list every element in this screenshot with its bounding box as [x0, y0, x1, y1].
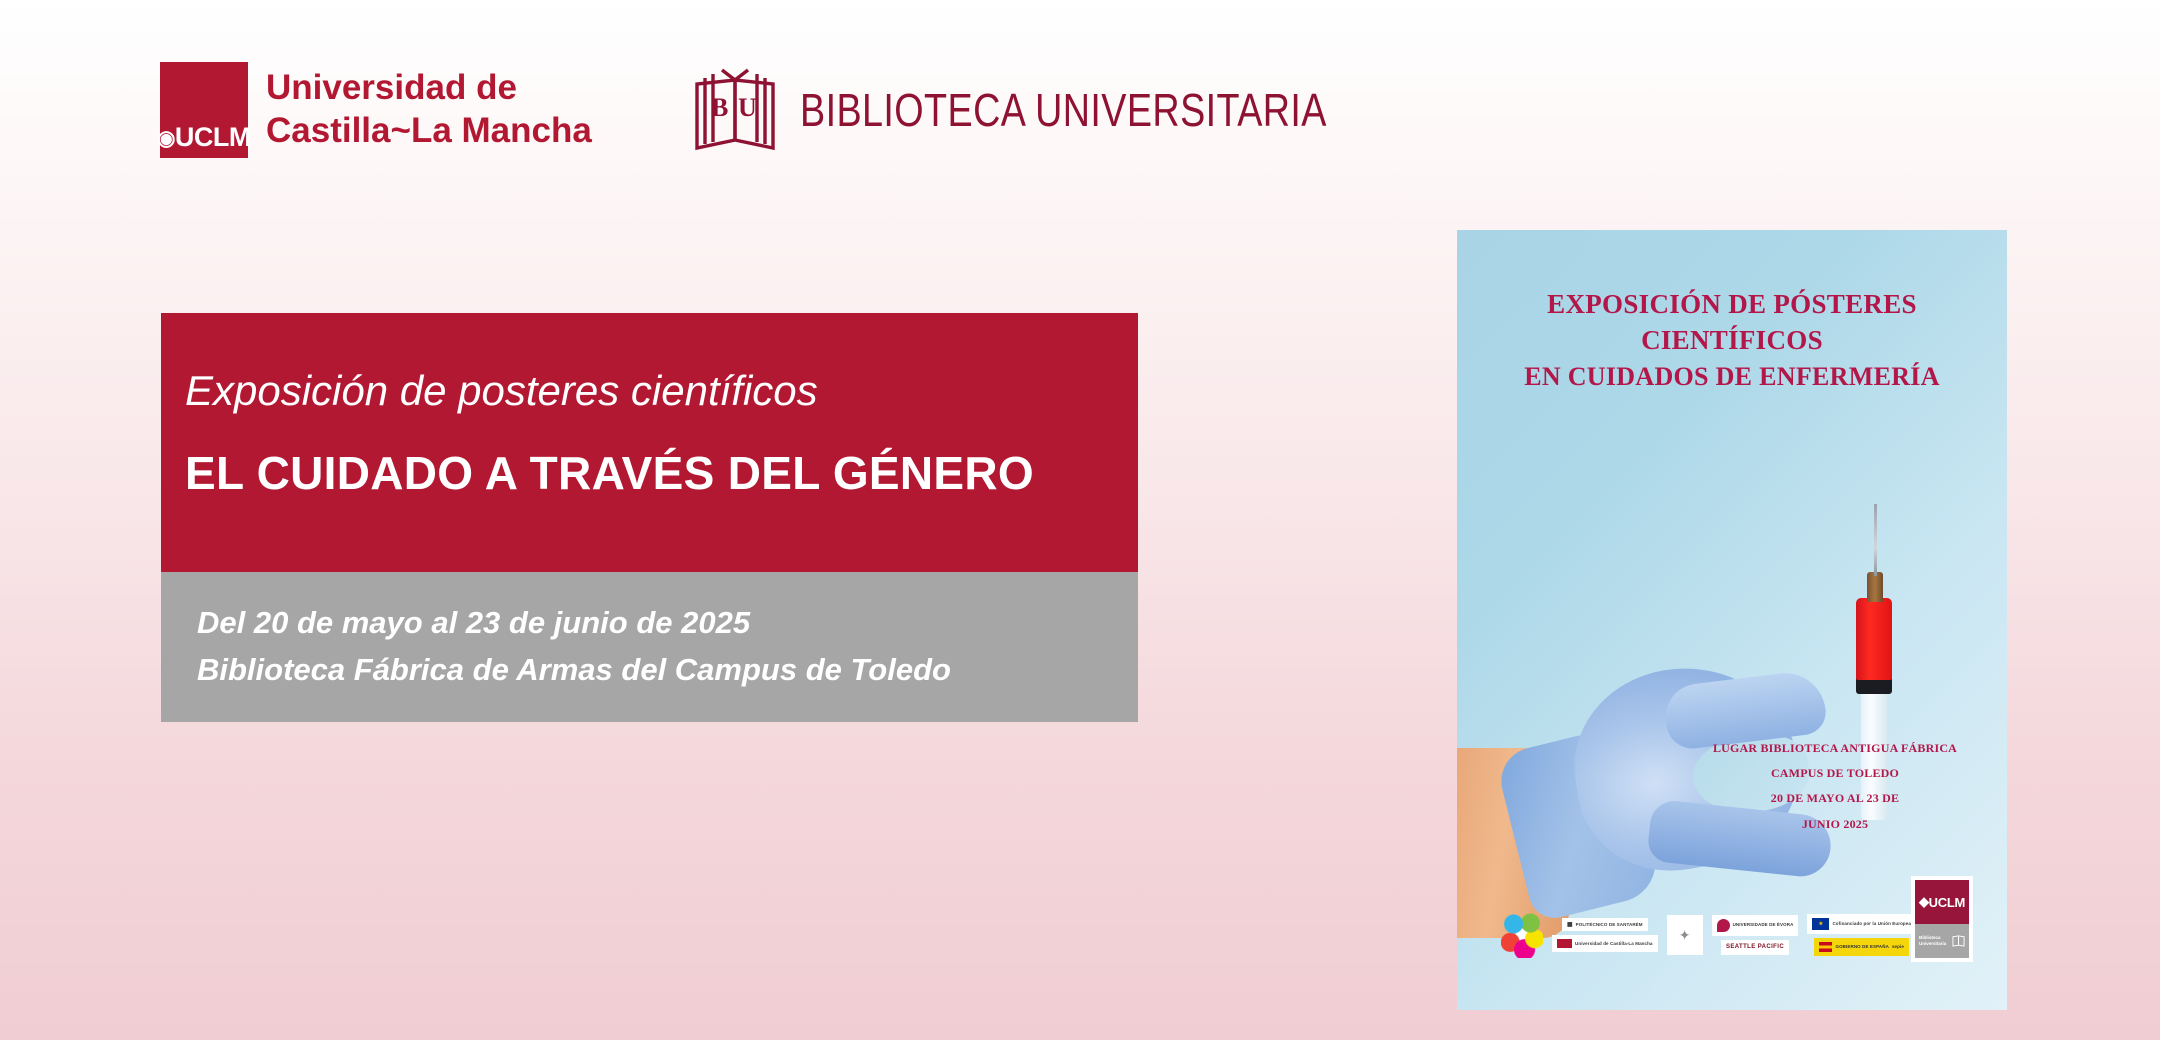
uclm-small-label: Universidad de Castilla-La Mancha [1575, 941, 1653, 947]
santarem-icon: ⬛ [1567, 922, 1573, 928]
poster-sponsor-logos: ⬛ POLITÉCNICO DE SANTARÉM Universidad de… [1501, 912, 1916, 958]
svg-text:U: U [738, 93, 757, 122]
uclm-small-icon [1557, 939, 1572, 948]
uclm-mark-text: ◉UCLM [157, 124, 251, 151]
announcement-venue: Biblioteca Fábrica de Armas del Campus d… [197, 647, 1138, 694]
sponsor-eu-sepie-group: Cofinanciado por la Unión Europea GOBIER… [1807, 914, 1916, 956]
sepie-label: sepie [1892, 944, 1904, 950]
poster-badge-book-icon [1952, 934, 1965, 948]
syringe-hub-shape [1867, 572, 1883, 602]
seattle-pacific-chip: SEATTLE PACIFIC [1721, 940, 1789, 956]
poster-uclm-badge-label: UCLM [1929, 895, 1965, 910]
european-union-label: Cofinanciado por la Unión Europea [1832, 921, 1911, 927]
sponsor-santarem-uclm-group: ⬛ POLITÉCNICO DE SANTARÉM Universidad de… [1552, 918, 1658, 953]
uclm-red-mark: ◉UCLM [160, 62, 248, 158]
sponsor-unimore: ✦ [1667, 915, 1703, 955]
poster-badge-sub-line1: Biblioteca [1919, 935, 1941, 940]
european-union-flag-icon [1812, 918, 1829, 930]
evora-icon [1717, 919, 1730, 932]
sponsor-evora-seattle-group: UNIVERSIDADE DE ÉVORA SEATTLE PACIFIC [1712, 915, 1799, 956]
announcement-gray-banner: Del 20 de mayo al 23 de junio de 2025 Bi… [161, 572, 1138, 722]
uclm-wordmark: Universidad de Castilla~La Mancha [266, 62, 592, 158]
uclm-target-icon: ◉ [157, 127, 175, 150]
poster-uclm-badge-sub: Biblioteca Universitaria [1915, 924, 1969, 958]
universidade-evora-label: UNIVERSIDADE DE ÉVORA [1733, 922, 1794, 928]
event-poster-image: EXPOSICIÓN DE PÓSTERES CIENTÍFICOS EN CU… [1457, 230, 2007, 1010]
european-union-chip: Cofinanciado por la Unión Europea [1807, 914, 1916, 934]
poster-detail-month: JUNIO 2025 [1685, 812, 1985, 837]
poster-uclm-badge: ◆UCLM Biblioteca Universitaria [1911, 876, 1973, 962]
gobierno-espana-icon [1819, 942, 1832, 952]
announcement-date: Del 20 de mayo al 23 de junio de 2025 [197, 600, 1138, 647]
biblioteca-universitaria-title: BIBLIOTECA UNIVERSITARIA [800, 83, 1327, 137]
poster-detail-venue: LUGAR BIBLIOTECA ANTIGUA FÁBRICA [1685, 736, 1985, 761]
poster-badge-sub-text: Biblioteca Universitaria [1919, 935, 1946, 947]
erasmus-plus-icon [1501, 912, 1543, 958]
announcement-red-banner: Exposición de posteres científicos EL CU… [161, 313, 1138, 572]
poster-badge-sub-line2: Universitaria [1919, 941, 1946, 946]
uclm-logo: ◉UCLM Universidad de Castilla~La Mancha [160, 62, 592, 158]
politecnico-santarem-label: POLITÉCNICO DE SANTARÉM [1576, 922, 1643, 928]
unimore-icon: ✦ [1667, 915, 1703, 955]
uclm-wordmark-line1: Universidad de [266, 67, 592, 110]
universidade-evora-chip: UNIVERSIDADE DE ÉVORA [1712, 915, 1799, 936]
open-book-bu-icon: B U [692, 64, 778, 156]
sponsor-erasmus-plus [1501, 912, 1543, 958]
politecnico-santarem-chip: ⬛ POLITÉCNICO DE SANTARÉM [1562, 918, 1648, 932]
header-logo-bar: ◉UCLM Universidad de Castilla~La Mancha … [160, 62, 1442, 158]
poster-details: LUGAR BIBLIOTECA ANTIGUA FÁBRICA CAMPUS … [1685, 736, 1985, 837]
gobierno-espana-label: GOBIERNO DE ESPAÑA [1835, 944, 1888, 950]
uclm-mark-label: UCLM [175, 122, 251, 152]
sepie-chip: GOBIERNO DE ESPAÑA sepie [1814, 938, 1909, 956]
syringe-fluid-shape [1856, 598, 1892, 680]
poster-uclm-badge-mark: ◆UCLM [1915, 880, 1969, 924]
poster-detail-dates: 20 DE MAYO AL 23 DE [1685, 786, 1985, 811]
announcement-subtitle: Exposición de posteres científicos [185, 365, 1138, 418]
announcement-title: EL CUIDADO A TRAVÉS DEL GÉNERO [185, 446, 1138, 500]
poster-detail-campus: CAMPUS DE TOLEDO [1685, 761, 1985, 786]
biblioteca-universitaria-logo: B U BIBLIOTECA UNIVERSITARIA [692, 64, 1443, 156]
seattle-pacific-label: SEATTLE PACIFIC [1726, 944, 1784, 952]
uclm-small-chip: Universidad de Castilla-La Mancha [1552, 935, 1658, 952]
uclm-wordmark-line2: Castilla~La Mancha [266, 110, 592, 153]
poster-uclm-diamond-icon: ◆ [1919, 894, 1929, 910]
svg-text:B: B [711, 93, 728, 122]
syringe-needle-shape [1874, 504, 1877, 576]
